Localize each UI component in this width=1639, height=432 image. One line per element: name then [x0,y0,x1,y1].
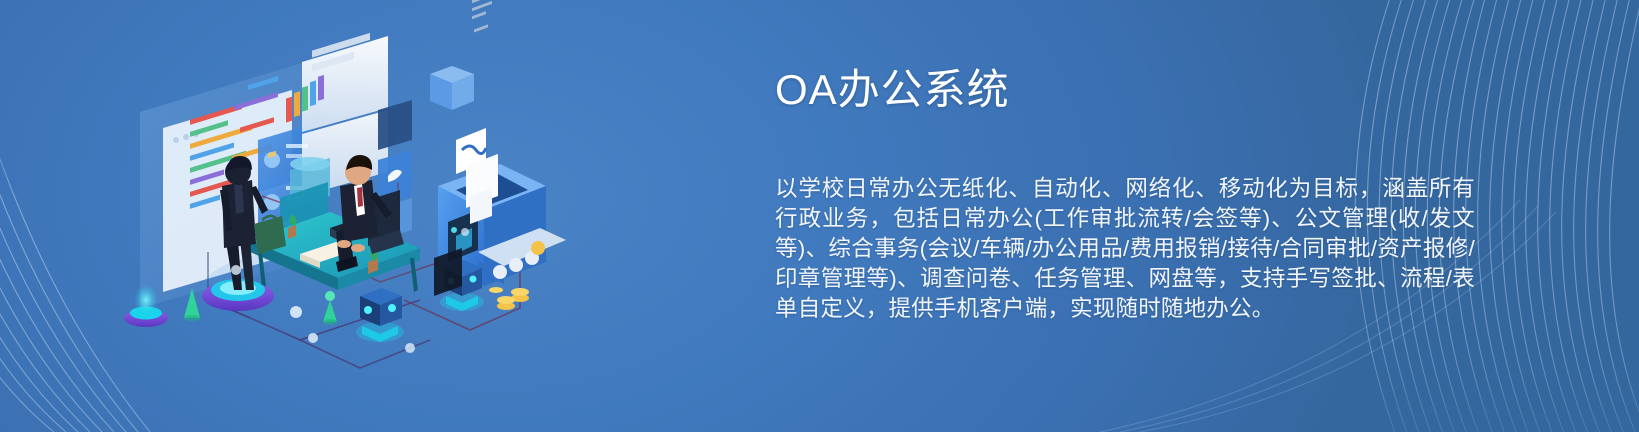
left-arc-group [0,70,150,432]
page-title: OA办公系统 [775,62,1475,118]
page-description: 以学校日常办公无纸化、自动化、网络化、移动化为目标，涵盖所有行政业务，包括日常办… [775,174,1475,324]
coin-stack [489,287,529,310]
screen-panels [140,0,474,308]
glow-pod-left [124,284,168,327]
ground-decor [124,228,469,353]
file-rack [280,75,328,238]
printer-machine [438,0,566,310]
person-seated [336,155,392,272]
cone-trees [184,288,337,325]
person-standing [202,151,286,311]
floating-cube [430,66,474,110]
oa-system-banner: OA办公系统 以学校日常办公无纸化、自动化、网络化、移动化为目标，涵盖所有行政业… [0,0,1639,432]
desk-plants [288,214,378,274]
robot-units [356,248,484,342]
floor-wires [208,182,520,368]
flying-documents [456,0,498,224]
code-lines [190,76,278,209]
office-desk-group [200,75,440,336]
banner-text-content: OA办公系统 以学校日常办公无纸化、自动化、网络化、移动化为目标，涵盖所有行政业… [775,62,1475,324]
